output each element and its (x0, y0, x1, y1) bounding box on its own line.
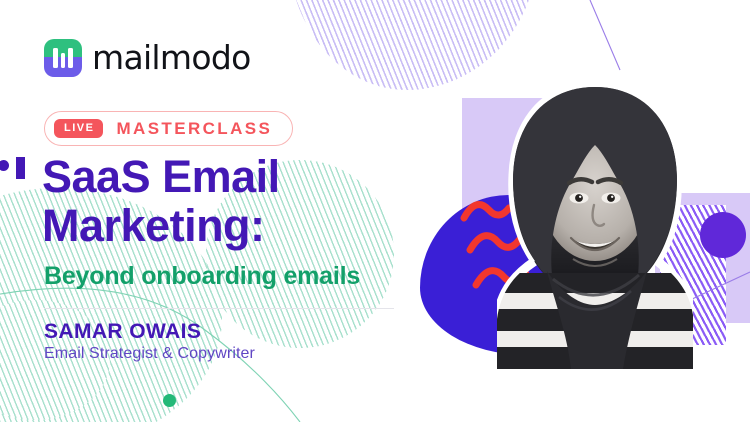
page-subtitle: Beyond onboarding emails (44, 262, 464, 291)
mailmodo-logo-icon (44, 39, 82, 77)
avatar (497, 83, 693, 369)
thin-purple-line-2 (690, 272, 750, 300)
brand-name: mailmodo (92, 38, 251, 77)
live-chip: LIVE (54, 119, 103, 138)
speaker-role: Email Strategist & Copywriter (44, 345, 255, 363)
thin-purple-line (590, 0, 620, 70)
event-type-label: MASTERCLASS (116, 120, 272, 137)
page-title: SaaS Email Marketing: (42, 153, 432, 250)
divider (44, 308, 394, 309)
headline-line-1: SaaS Email (42, 153, 432, 202)
speaker-name: SAMAR OWAIS (44, 320, 201, 344)
live-masterclass-badge: LIVE MASTERCLASS (44, 111, 293, 146)
webinar-banner: mailmodo LIVE MASTERCLASS SaaS Email Mar… (0, 0, 750, 422)
portrait-photo-samar-owais (497, 83, 693, 369)
headline-line-2: Marketing: (42, 202, 432, 251)
brand-logo[interactable]: mailmodo (44, 38, 251, 77)
